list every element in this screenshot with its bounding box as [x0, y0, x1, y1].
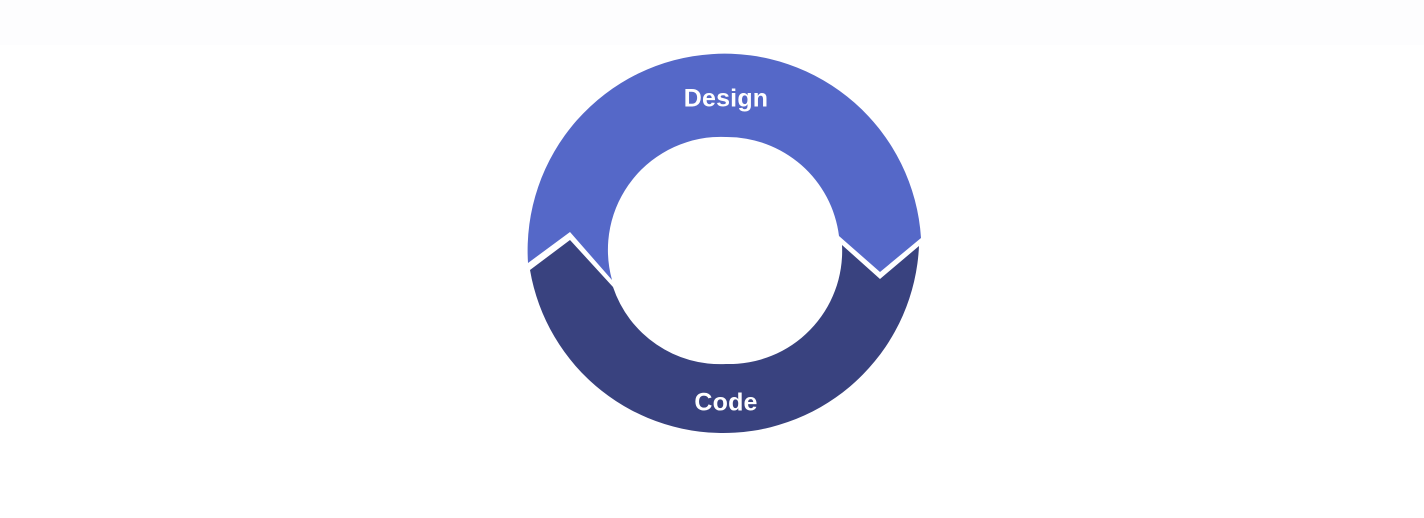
design-label: Design: [684, 85, 769, 113]
code-label: Code: [694, 389, 757, 417]
cycle-diagram-svg: Design Code: [0, 0, 1424, 518]
screenshot-canvas: Design Code: [0, 0, 1424, 518]
cycle-diagram: Design Code: [0, 0, 1424, 518]
